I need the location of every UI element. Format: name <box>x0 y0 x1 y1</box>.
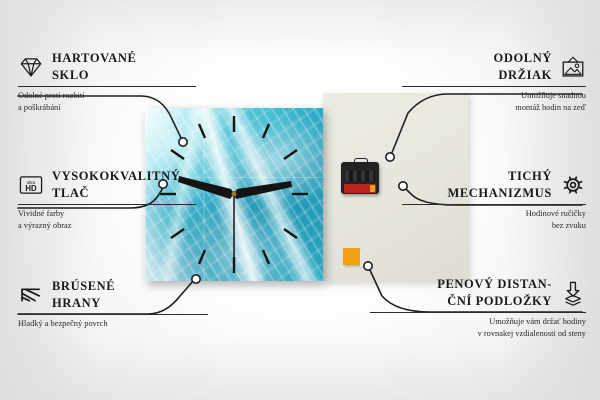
title-line-1: TICHÝ <box>447 168 552 185</box>
desc-line-2: montáž hodin na zeď <box>515 103 586 112</box>
title-line-1: VYSOKOKVALITNÝ <box>52 168 180 185</box>
feature-title: BRÚSENÉ HRANY <box>52 278 115 311</box>
feature-rule <box>370 312 586 313</box>
gear-icon <box>560 172 586 198</box>
title-line-1: BRÚSENÉ <box>52 278 115 295</box>
stack-download-icon <box>560 280 586 306</box>
feature-high-quality-print: ultra HD VYSOKOKVALITNÝ TLAČ Vividné far… <box>18 168 196 232</box>
feature-description: Umožňuje vám držať hodiny v rovnakej vzd… <box>370 316 586 340</box>
feature-rule <box>18 314 208 315</box>
feature-title: VYSOKOKVALITNÝ TLAČ <box>52 168 180 201</box>
desc-line-1: Umožňuje vám držať hodiny <box>489 317 586 326</box>
picture-frame-icon <box>560 54 586 80</box>
feature-description: Hladký a bezpečný povrch <box>18 318 208 330</box>
desc-line-1: Umožňuje snadnou <box>521 91 586 100</box>
feature-rule <box>402 86 586 87</box>
title-line-2: SKLO <box>52 67 136 84</box>
desc-line-1: Hladký a bezpečný povrch <box>18 319 108 328</box>
feature-title: HARTOVANÉ SKLO <box>52 50 136 83</box>
battery <box>344 184 376 193</box>
feature-header: ultra HD VYSOKOKVALITNÝ TLAČ <box>18 168 196 201</box>
title-line-2: HRANY <box>52 295 115 312</box>
desc-line-1: Hodinové ručičky <box>526 209 586 218</box>
feature-ground-edges: BRÚSENÉ HRANY Hladký a bezpečný povrch <box>18 278 208 330</box>
mechanism-body <box>341 162 379 194</box>
feature-header: HARTOVANÉ SKLO <box>18 50 196 83</box>
feature-rule <box>18 204 196 205</box>
desc-line-2: v rovnakej vzdialenosti od steny <box>478 329 586 338</box>
feature-header: ODOLNÝ DRŽIAK <box>402 50 586 83</box>
diagonal-lines-icon <box>18 282 44 308</box>
desc-line-1: Odolné proti rozbití <box>18 91 85 100</box>
feature-title: TICHÝ MECHANIZMUS <box>447 168 552 201</box>
feature-title: ODOLNÝ DRŽIAK <box>494 50 552 83</box>
title-line-2: TLAČ <box>52 185 180 202</box>
title-line-2: MECHANIZMUS <box>447 185 552 202</box>
feature-description: Vividné farby a výrazný obraz <box>18 208 196 232</box>
title-line-2: DRŽIAK <box>494 67 552 84</box>
feature-description: Odolné proti rozbití a poškrábání <box>18 90 196 114</box>
title-line-1: PENOVÝ DISTAN- <box>437 276 552 293</box>
desc-line-2: bez zvuku <box>552 221 586 230</box>
product-infographic: HARTOVANÉ SKLO Odolné proti rozbití a po… <box>0 0 600 400</box>
feature-header: PENOVÝ DISTAN- ČNÍ PODLOŽKY <box>370 276 586 309</box>
feature-description: Hodinové ručičky bez zvuku <box>402 208 586 232</box>
feature-tempered-glass: HARTOVANÉ SKLO Odolné proti rozbití a po… <box>18 50 196 114</box>
svg-text:HD: HD <box>25 184 37 193</box>
feature-title: PENOVÝ DISTAN- ČNÍ PODLOŽKY <box>437 276 552 309</box>
ultra-hd-icon: ultra HD <box>18 172 44 198</box>
feature-durable-holder: ODOLNÝ DRŽIAK Umožňuje snadnou montáž ho… <box>402 50 586 114</box>
desc-line-2: a poškrábání <box>18 103 61 112</box>
feature-header: TICHÝ MECHANIZMUS <box>402 168 586 201</box>
mechanism-slots <box>345 171 375 181</box>
title-line-1: ODOLNÝ <box>494 50 552 67</box>
feature-description: Umožňuje snadnou montáž hodin na zeď <box>402 90 586 114</box>
clock-mechanism <box>341 158 379 194</box>
title-line-1: HARTOVANÉ <box>52 50 136 67</box>
desc-line-1: Vividné farby <box>18 209 64 218</box>
desc-line-2: a výrazný obraz <box>18 221 71 230</box>
feature-foam-spacers: PENOVÝ DISTAN- ČNÍ PODLOŽKY Umožňuje vám… <box>370 276 586 340</box>
feature-header: BRÚSENÉ HRANY <box>18 278 208 311</box>
feature-rule <box>18 86 196 87</box>
feature-rule <box>402 204 586 205</box>
feature-silent-mechanism: TICHÝ MECHANIZMUS Hodinové ručičky bez z… <box>402 168 586 232</box>
title-line-2: ČNÍ PODLOŽKY <box>437 293 552 310</box>
diamond-icon <box>18 54 44 80</box>
foam-spacer-pad <box>343 248 360 265</box>
